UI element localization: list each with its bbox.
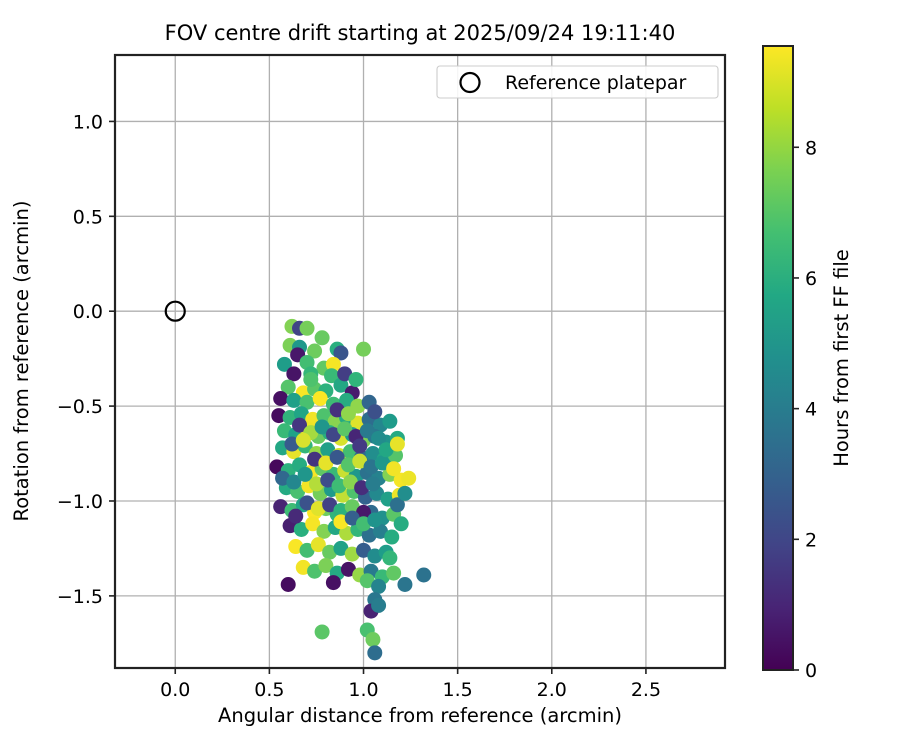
x-tick-label: 1.5	[443, 679, 473, 701]
scatter-point	[371, 598, 386, 613]
scatter-point	[315, 624, 330, 639]
scatter-point	[348, 372, 363, 387]
scatter-point	[281, 577, 296, 592]
x-tick-label: 0.5	[254, 679, 284, 701]
scatter-point	[313, 391, 328, 406]
scatter-point	[394, 516, 409, 531]
x-tick-label: 0.0	[160, 679, 190, 701]
legend-label-reference-platepar: Reference platepar	[505, 72, 687, 94]
x-axis-label: Angular distance from reference (arcmin)	[218, 704, 622, 727]
scatter-point	[416, 568, 431, 583]
y-tick-label: 0.0	[73, 301, 103, 323]
scatter-point	[367, 645, 382, 660]
colorbar-tick-label: 2	[805, 529, 817, 551]
y-axis-label: Rotation from reference (arcmin)	[10, 201, 33, 522]
colorbar-tick-label: 6	[805, 268, 817, 290]
y-tick-label: −0.5	[57, 396, 103, 418]
scatter-plot-svg: 0.00.51.01.52.02.5 1.00.50.0−0.5−1.0−1.5…	[0, 0, 900, 750]
y-tick-label: −1.0	[57, 491, 103, 513]
scatter-point	[315, 330, 330, 345]
scatter-point	[390, 437, 405, 452]
scatter-point	[352, 438, 367, 453]
scatter-point	[288, 509, 303, 524]
scatter-point	[273, 391, 288, 406]
scatter-point	[356, 342, 371, 357]
scatter-point	[300, 321, 315, 336]
scatter-point	[365, 476, 380, 491]
colorbar-tick-label: 4	[805, 399, 817, 421]
scatter-point	[382, 550, 397, 565]
colorbar-tick-label: 8	[805, 137, 817, 159]
scatter-point	[382, 414, 397, 429]
scatter-point	[286, 366, 301, 381]
y-tick-label: 1.0	[73, 111, 103, 133]
scatter-point	[367, 512, 382, 527]
scatter-point	[386, 566, 401, 581]
y-tick-label: −1.5	[57, 586, 103, 608]
chart-title: FOV centre drift starting at 2025/09/24 …	[165, 21, 676, 45]
scatter-point	[371, 579, 386, 594]
scatter-point	[397, 486, 412, 501]
scatter-point	[341, 406, 356, 421]
scatter-point	[303, 372, 318, 387]
scatter-point	[296, 433, 311, 448]
scatter-point	[326, 575, 341, 590]
chart-figure: 0.00.51.01.52.02.5 1.00.50.0−0.5−1.0−1.5…	[0, 0, 900, 750]
scatter-point	[384, 530, 399, 545]
scatter-point	[401, 471, 416, 486]
x-tick-label: 1.0	[348, 679, 378, 701]
scatter-point	[286, 393, 301, 408]
scatter-point	[367, 404, 382, 419]
x-tick-label: 2.0	[537, 679, 567, 701]
colorbar-tick-label: 0	[805, 660, 817, 682]
colorbar-label: Hours from first FF file	[830, 249, 853, 467]
colorbar-gradient	[763, 46, 793, 670]
y-tick-label: 0.5	[73, 206, 103, 228]
x-tick-label: 2.5	[631, 679, 661, 701]
legend[interactable]: Reference platepar	[437, 66, 718, 98]
scatter-point	[386, 461, 401, 476]
scatter-point	[365, 632, 380, 647]
scatter-point	[397, 577, 412, 592]
